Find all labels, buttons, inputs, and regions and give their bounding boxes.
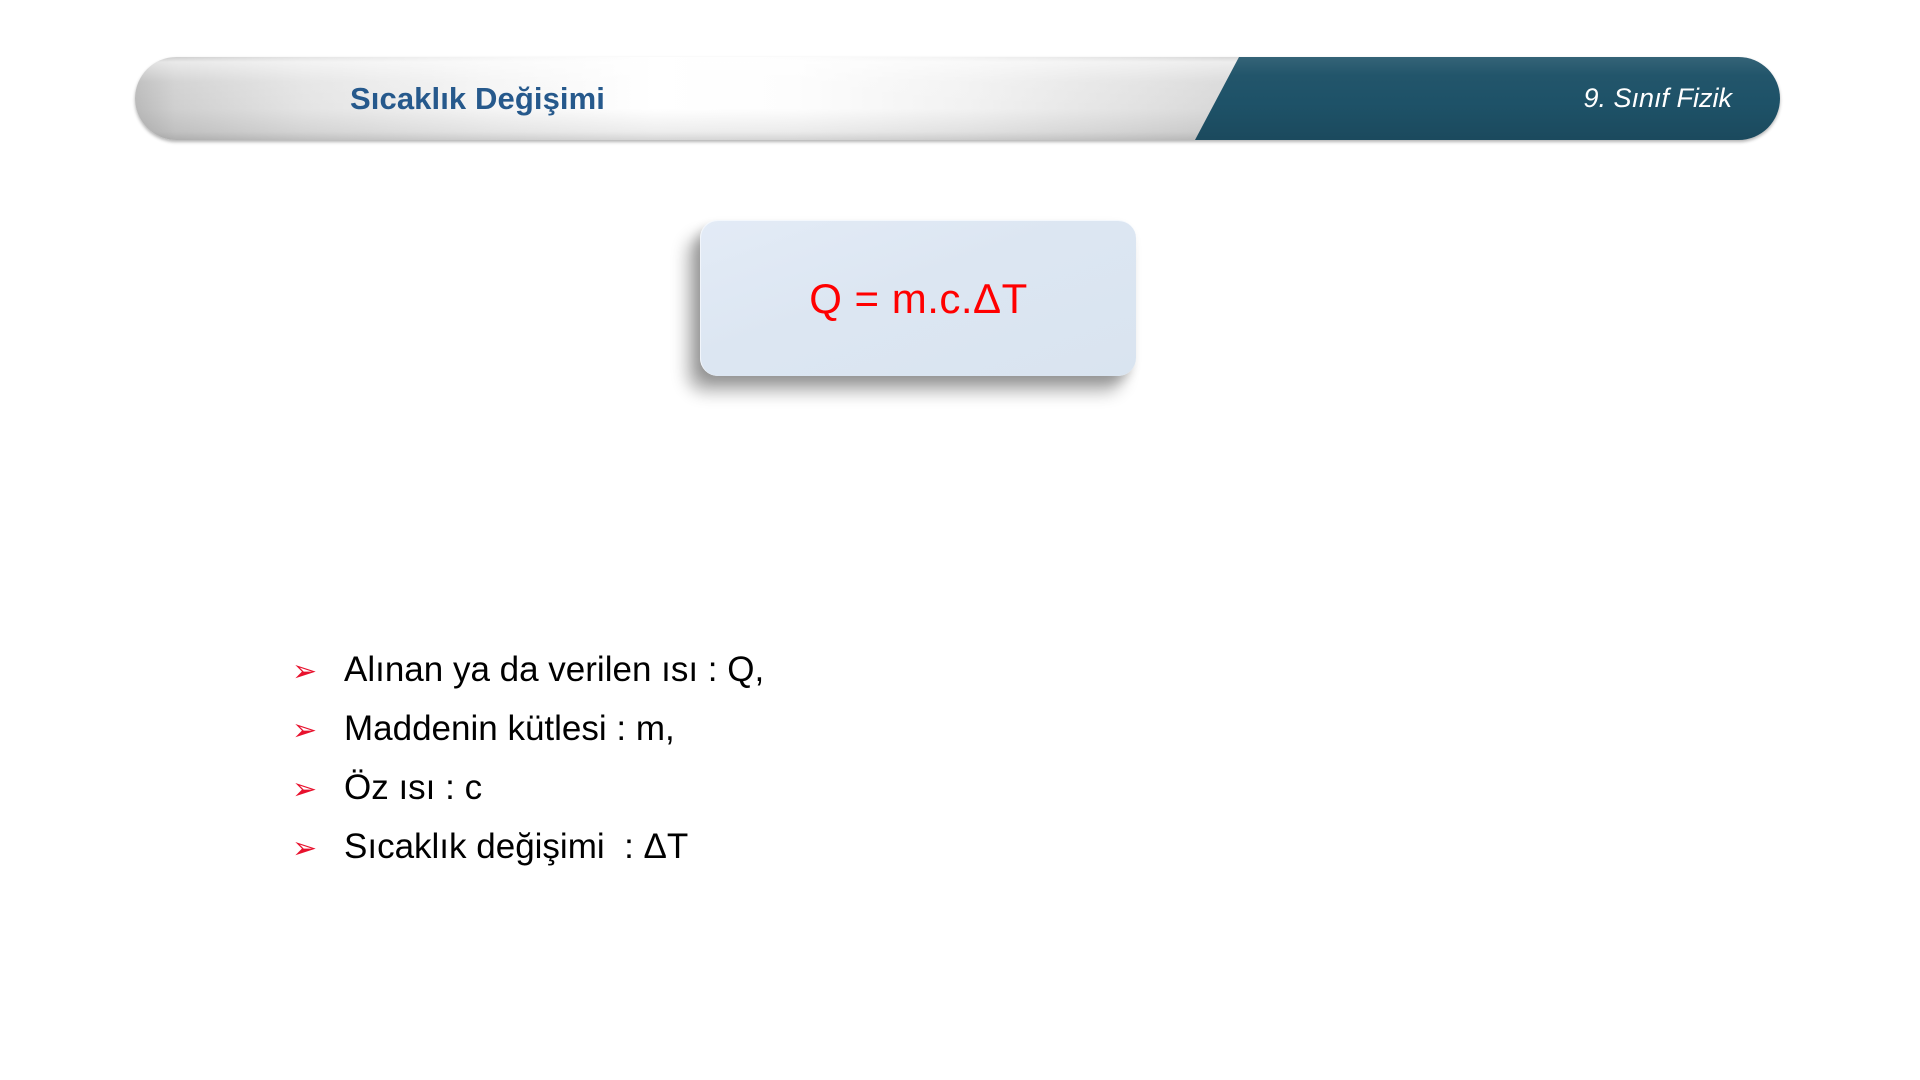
list-item-label: Öz ısı : c [344,758,482,817]
list-item-label: Alınan ya da verilen ısı : Q, [344,640,764,699]
arrow-bullet-icon: ➢ [292,701,344,760]
list-item: ➢ Öz ısı : c [292,758,1392,817]
header-banner: Sıcaklık Değişimi 9. Sınıf Fizik [135,57,1780,140]
formula-text: Q = m.c.ΔT [809,275,1028,323]
list-item-label: Sıcaklık değişimi : ΔT [344,817,688,876]
formula-box: Q = m.c.ΔT [700,220,1136,376]
list-item: ➢ Alınan ya da verilen ısı : Q, [292,640,1392,699]
list-item: ➢ Sıcaklık değişimi : ΔT [292,817,1392,876]
arrow-bullet-icon: ➢ [292,819,344,878]
definitions-list: ➢ Alınan ya da verilen ısı : Q, ➢ Madden… [292,640,1392,876]
list-item: ➢ Maddenin kütlesi : m, [292,699,1392,758]
list-item-label: Maddenin kütlesi : m, [344,699,675,758]
arrow-bullet-icon: ➢ [292,642,344,701]
slide: Sıcaklık Değişimi 9. Sınıf Fizik Q = m.c… [0,0,1920,1080]
subject-label: 9. Sınıf Fizik [1583,57,1732,140]
page-title: Sıcaklık Değişimi [350,57,605,140]
arrow-bullet-icon: ➢ [292,760,344,819]
